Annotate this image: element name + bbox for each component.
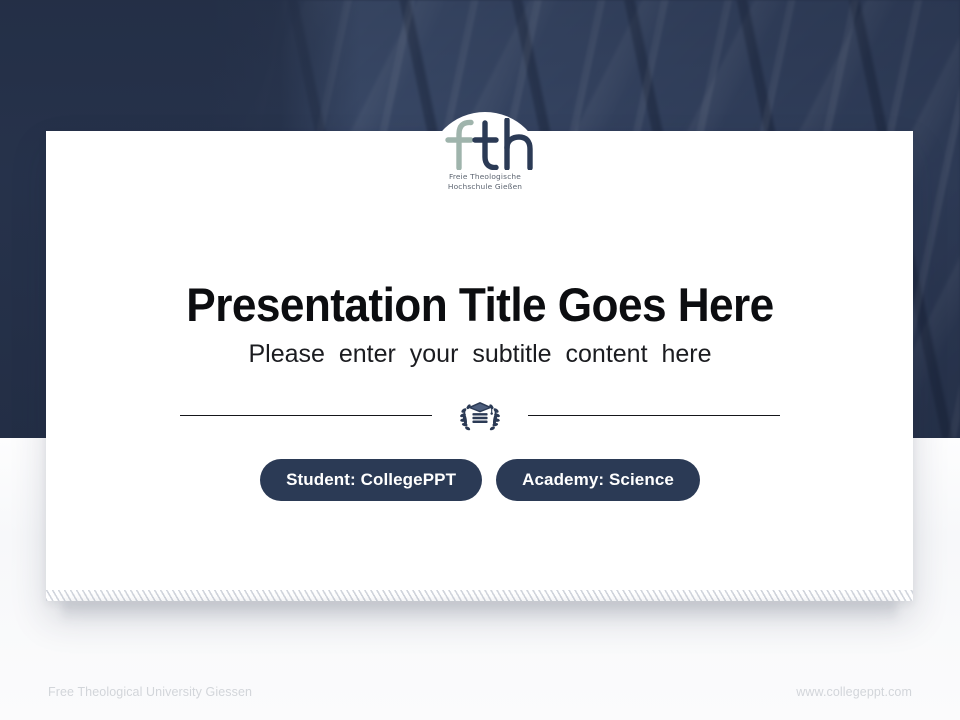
badge-academy[interactable]: Academy: Science — [496, 459, 700, 501]
fth-logo-subtitle: Freie Theologische Hochschule Gießen — [410, 172, 560, 191]
divider-rule-right — [528, 415, 780, 416]
divider-row — [0, 392, 960, 438]
fth-wordmark-icon — [433, 118, 537, 170]
footer-institution: Free Theological University Giessen — [48, 685, 252, 699]
badge-student[interactable]: Student: CollegePPT — [260, 459, 482, 501]
slide-subtitle: Please enter your subtitle content here — [0, 339, 960, 370]
badge-student-label: Student: CollegePPT — [286, 470, 456, 490]
slide-title: Presentation Title Goes Here — [29, 278, 931, 332]
card-base-shadow — [62, 601, 897, 623]
fth-logo-line2: Hochschule Gießen — [410, 182, 560, 192]
card-hatched-strip — [46, 590, 913, 601]
graduation-cap-laurel-emblem-icon — [458, 393, 502, 437]
divider-rule-left — [180, 415, 432, 416]
presentation-slide: Freie Theologische Hochschule Gießen Pre… — [0, 0, 960, 720]
badge-academy-label: Academy: Science — [522, 470, 674, 490]
fth-logo-line1: Freie Theologische — [410, 172, 560, 182]
footer-website[interactable]: www.collegeppt.com — [796, 685, 912, 699]
fth-logo: Freie Theologische Hochschule Gießen — [410, 118, 560, 200]
meta-badges: Student: CollegePPT Academy: Science — [0, 459, 960, 501]
